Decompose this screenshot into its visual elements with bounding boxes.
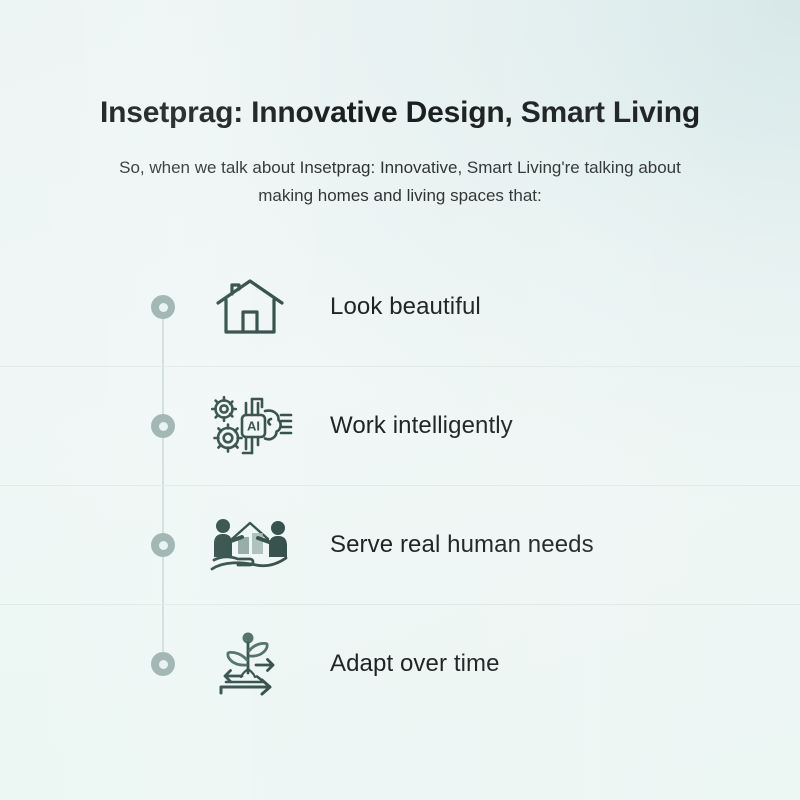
feature-list: Look beautiful	[0, 248, 800, 723]
list-item-label: Serve real human needs	[330, 486, 594, 604]
ai-chip-gears-brain-icon: AI	[204, 393, 296, 459]
list-item[interactable]: Adapt over time	[0, 604, 800, 723]
list-item-label: Adapt over time	[330, 605, 500, 723]
house-icon	[204, 274, 296, 340]
list-item[interactable]: Serve real human needs	[0, 485, 800, 604]
timeline-bullet-icon	[151, 295, 175, 319]
growing-plant-arrows-icon	[204, 631, 296, 697]
header-block: Insetprag: Innovative Design, Smart Livi…	[0, 94, 800, 210]
poster-canvas: Insetprag: Innovative Design, Smart Livi…	[0, 0, 800, 800]
people-house-in-hand-icon	[204, 512, 296, 578]
page-subtitle: So, when we talk about Insetprag: Innova…	[100, 154, 700, 210]
list-item-label: Look beautiful	[330, 248, 481, 366]
timeline-bullet-icon	[151, 414, 175, 438]
timeline-bullet-icon	[151, 533, 175, 557]
list-item[interactable]: Look beautiful	[0, 248, 800, 366]
page-title: Insetprag: Innovative Design, Smart Livi…	[0, 94, 800, 132]
svg-text:AI: AI	[247, 419, 260, 434]
list-item-label: Work intelligently	[330, 367, 513, 485]
list-item[interactable]: AI Work intelligently	[0, 366, 800, 485]
timeline-bullet-icon	[151, 652, 175, 676]
